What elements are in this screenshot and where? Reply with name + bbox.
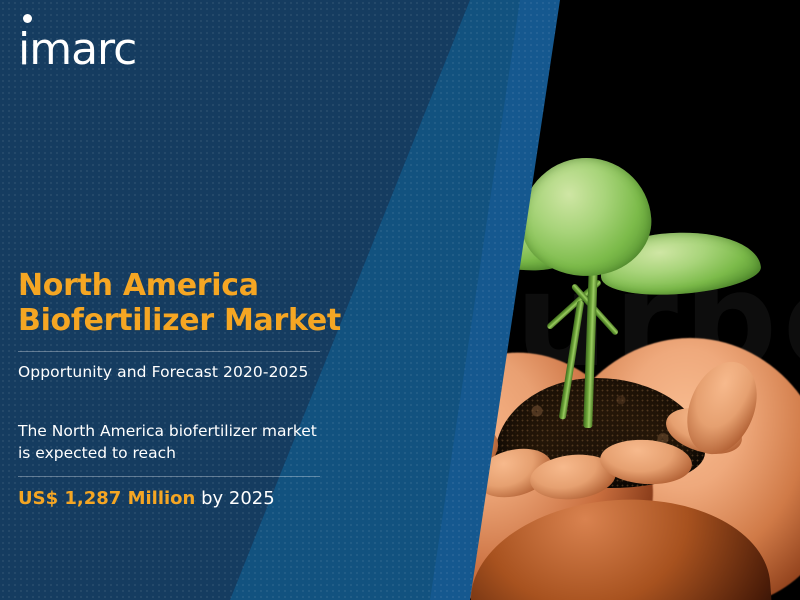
market-value-statement: US$ 1,287 Million by 2025 (18, 488, 378, 509)
report-cover: ourbo imarc North America Biofertilizer … (0, 0, 800, 600)
market-value-amount: US$ 1,287 Million (18, 488, 195, 509)
highlight-divider (18, 476, 320, 477)
highlight-lead-line-2: is expected to reach (18, 444, 176, 462)
title-line-1: North America (18, 268, 259, 303)
logo-dot-icon (23, 14, 32, 23)
logo-wordmark: imarc (18, 24, 136, 75)
title-block: North America Biofertilizer Market Oppor… (18, 268, 378, 381)
highlight-block: The North America biofertilizer market i… (18, 420, 378, 509)
market-value-year: by 2025 (195, 488, 274, 509)
imarc-logo[interactable]: imarc (18, 28, 136, 72)
title-line-2: Biofertilizer Market (18, 303, 341, 338)
report-subtitle: Opportunity and Forecast 2020-2025 (18, 363, 378, 381)
highlight-lead-line-1: The North America biofertilizer market (18, 422, 317, 440)
highlight-lead: The North America biofertilizer market i… (18, 420, 378, 464)
title-divider (18, 351, 320, 352)
page-title: North America Biofertilizer Market (18, 268, 378, 339)
